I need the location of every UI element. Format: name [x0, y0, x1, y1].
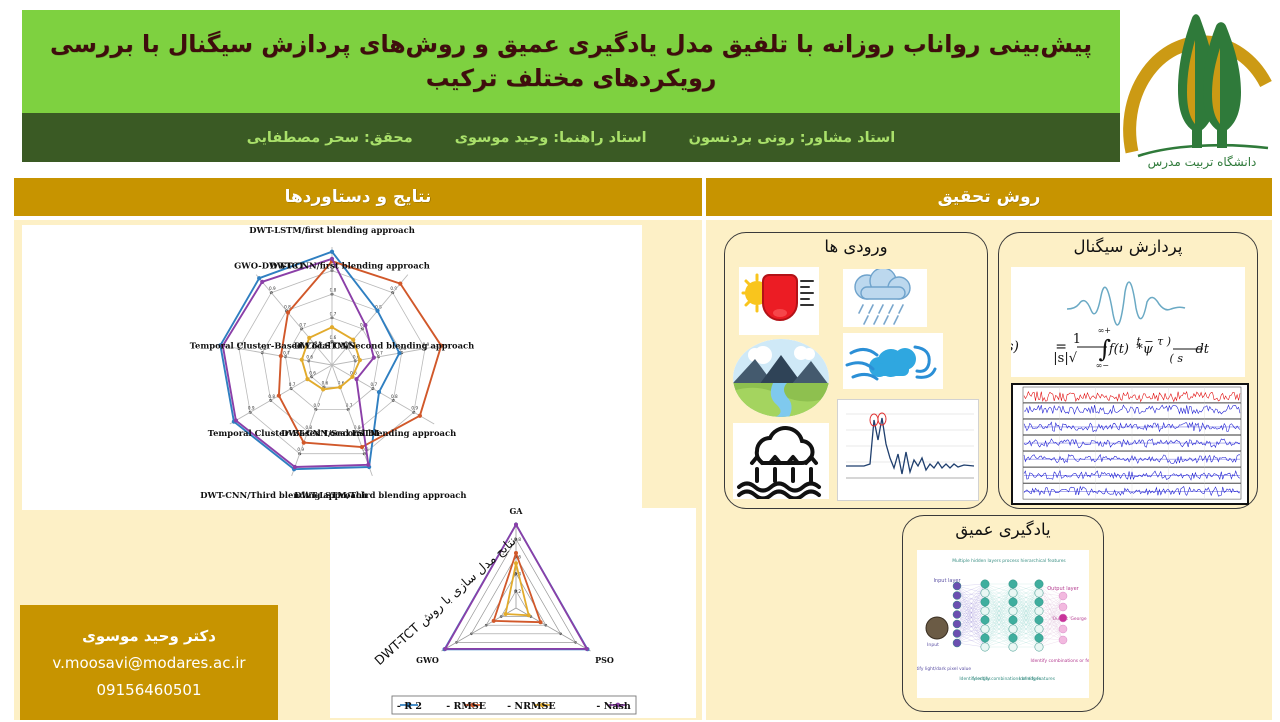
radar-axis-label: GWO-DWT-TCT	[234, 261, 305, 271]
credit-supervisor: استاد راهنما: وحید موسوی	[455, 130, 647, 146]
contact-email[interactable]: v.moosavi@modares.ac.ir	[52, 654, 245, 672]
radar2-legend-item: RMSE -	[446, 701, 486, 712]
svg-text:s ): s )	[1170, 352, 1184, 365]
signal-processing-box: پردازش سیگنال F(τ,s) = 1 √|s| +∞ ∫ −∞ f(…	[998, 232, 1258, 509]
radar2-legend-item: NRMSE -	[507, 701, 555, 712]
section-header-method-label: روش تحقیق	[938, 187, 1041, 207]
radar-chart-models: 0.60.60.60.60.60.60.60.60.60.70.70.70.70…	[22, 225, 642, 510]
nn-input-label: Input	[927, 642, 939, 648]
radar-axis-label: DWT-CNN/Third blending approach	[200, 490, 367, 500]
inputs-box-title: ورودی ها	[725, 237, 987, 256]
svg-text:√|s|: √|s|	[1053, 351, 1077, 366]
radar-chart-optimizers: 0.20.40.60.8 GAPSOGWO R 2 -RMSE -NRMSE -…	[330, 508, 696, 718]
radar-axis-label: Temporal Cluster-Based Local LSTM	[208, 428, 379, 438]
svg-text:0.9: 0.9	[269, 286, 276, 291]
section-header-results-label: نتایج و دستاوردها	[285, 187, 432, 207]
poster-header: پیش‌بینی رواناب روزانه با تلفیق مدل یادگ…	[0, 0, 1280, 170]
credits-band: استاد مشاور: رونی بردنسون استاد راهنما: …	[22, 113, 1120, 162]
nn-identify-pixels-label: Identify light/dark pixel value	[917, 666, 971, 672]
runoff-hydrograph-chart	[837, 399, 979, 501]
radar2-legend-item: Nash -	[596, 701, 630, 712]
method-panel: ورودی ها	[706, 220, 1272, 720]
wind-cloud-icon	[843, 333, 943, 389]
radar-chart-models-card: 0.60.60.60.60.60.60.60.60.60.70.70.70.70…	[22, 225, 642, 510]
svg-text:F(τ,s): F(τ,s)	[1011, 339, 1019, 355]
radar2-axis-label: GWO	[416, 655, 439, 665]
nn-identify-features-label: Identify features	[1019, 676, 1056, 682]
svg-text:0.7: 0.7	[283, 350, 290, 355]
svg-text:0.8: 0.8	[330, 288, 337, 293]
deep-learning-box-title: یادگیری عمیق	[903, 520, 1103, 539]
svg-text:0.8: 0.8	[284, 304, 291, 309]
credit-researcher: محقق: سحر مصطفایی	[247, 130, 413, 146]
wavelet-decomposition-plot	[1011, 383, 1249, 505]
svg-text:−∞: −∞	[1096, 361, 1109, 370]
rain-cloud-icon	[843, 269, 927, 327]
inputs-box: ورودی ها	[724, 232, 988, 509]
page-title: پیش‌بینی رواناب روزانه با تلفیق مدل یادگ…	[50, 28, 1092, 95]
svg-text:+∞: +∞	[1098, 326, 1111, 335]
contact-box: دکتر وحید موسوی v.moosavi@modares.ac.ir …	[20, 605, 278, 720]
nn-output-value-label: Output 'George'	[1051, 616, 1086, 622]
svg-text:1: 1	[1073, 332, 1081, 347]
page-title-line1: پیش‌بینی رواناب روزانه با تلفیق مدل یادگ…	[50, 28, 1092, 61]
radar2-axis-labels: GAPSOGWO	[416, 506, 614, 665]
svg-text:0.6: 0.6	[330, 335, 337, 340]
svg-text:0.7: 0.7	[330, 311, 337, 316]
radar-series-group	[218, 250, 443, 472]
radar-axis-label: DWT-LSTM/first blending approach	[249, 225, 415, 235]
radar-axis-label: Temporal Cluster-Based Local CNN	[190, 341, 356, 351]
svg-text:dt: dt	[1195, 342, 1209, 357]
nn-output-layer-label: Output layer	[1047, 586, 1079, 592]
svg-text:0.7: 0.7	[299, 322, 306, 327]
svg-text:0.9: 0.9	[411, 406, 418, 411]
svg-text:0.8: 0.8	[391, 394, 398, 399]
svg-text:0.6: 0.6	[306, 354, 313, 359]
radar2-axis-label: GA	[509, 506, 523, 516]
wavelet-formula-card: F(τ,s) = 1 √|s| +∞ ∫ −∞ f(t) ψ* ( t − τ …	[1011, 267, 1245, 377]
neural-network-diagram: Multiple hidden layers process hierarchi…	[917, 550, 1089, 698]
svg-text:0.7: 0.7	[376, 350, 383, 355]
logo-caption: دانشگاه تربیت مدرس	[1148, 155, 1257, 170]
section-header-results: نتایج و دستاوردها	[14, 178, 702, 216]
radar-grid: 0.60.60.60.60.60.60.60.60.60.70.70.70.70…	[216, 247, 448, 476]
svg-text:f(t): f(t)	[1108, 342, 1129, 357]
watershed-landscape-icon	[733, 339, 829, 417]
poster-title-band: پیش‌بینی رواناب روزانه با تلفیق مدل یادگ…	[22, 10, 1120, 113]
page-title-line2: رویکردهای مختلف ترکیب	[50, 62, 1092, 95]
nn-input-avatar	[926, 617, 948, 639]
svg-text:( t − τ: ( t − τ	[1136, 335, 1171, 348]
tarbiat-modares-logo-mark: دانشگاه تربیت مدرس	[1128, 6, 1280, 170]
credit-advisor: استاد مشاور: رونی بردنسون	[689, 130, 896, 146]
signal-processing-box-title: پردازش سیگنال	[999, 237, 1257, 256]
radar2-legend-item: R 2 -	[397, 701, 422, 712]
radar-chart-optimizers-card: 0.20.40.60.8 GAPSOGWO R 2 -RMSE -NRMSE -…	[330, 508, 696, 718]
university-logo: دانشگاه تربیت مدرس	[1128, 6, 1280, 170]
temperature-thermometer-icon	[739, 267, 819, 335]
nn-identify-combos2-label: Identify combinations or features	[1031, 658, 1089, 664]
deep-learning-box: یادگیری عمیق Multiple hidden layers proc…	[902, 515, 1104, 712]
radar2-legend: R 2 -RMSE -NRMSE -Nash -	[392, 696, 636, 714]
section-header-method: روش تحقیق	[706, 178, 1272, 216]
results-panel: 0.60.60.60.60.60.60.60.60.60.70.70.70.70…	[14, 220, 702, 720]
contact-phone[interactable]: 09156460501	[97, 681, 202, 699]
evaporation-icon	[733, 423, 829, 499]
svg-text:0.7: 0.7	[371, 382, 378, 387]
nn-hidden-note: Multiple hidden layers process hierarchi…	[952, 558, 1066, 564]
radar2-axis-label: PSO	[595, 655, 614, 665]
contact-name: دکتر وحید موسوی	[82, 627, 216, 645]
svg-text:0.2: 0.2	[514, 589, 521, 595]
